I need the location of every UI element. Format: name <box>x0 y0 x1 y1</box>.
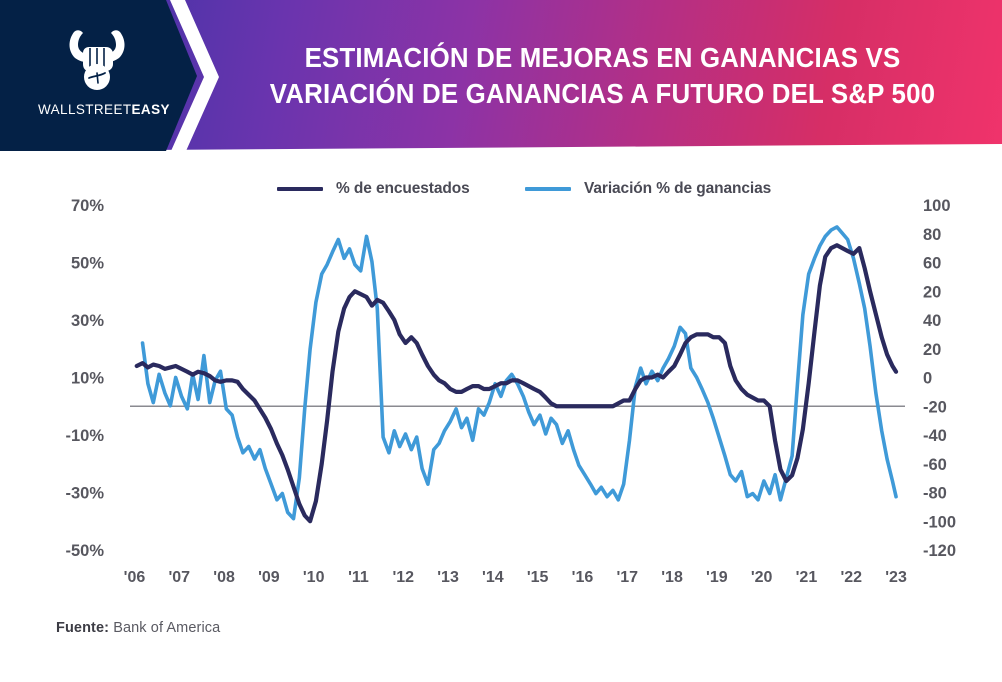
x-axis-tick: '11 <box>348 569 369 586</box>
y-axis-right-tick: -60 <box>923 456 947 474</box>
y-axis-right-tick: 100 <box>923 197 951 215</box>
y-axis-right-tick: -120 <box>923 542 956 560</box>
page-title: ESTIMACIÓN DE MEJORAS EN GANANCIAS VS VA… <box>238 40 967 112</box>
y-axis-right-tick: -40 <box>923 427 947 445</box>
x-axis-tick: '10 <box>303 569 325 586</box>
y-axis-left-tick: -50% <box>65 542 104 560</box>
bull-fist-logo-icon <box>58 26 136 98</box>
page-header: WALLSTREETEASY ESTIMACIÓN DE MEJORAS EN … <box>0 0 1002 151</box>
x-axis-tick: '06 <box>124 569 146 586</box>
x-axis-tick: '09 <box>258 569 280 586</box>
y-axis-right-tick: 80 <box>923 226 941 244</box>
x-axis-tick: '17 <box>616 569 638 586</box>
x-axis-tick: '20 <box>751 569 773 586</box>
y-axis-left-tick: 70% <box>71 197 104 215</box>
x-axis-tick: '14 <box>482 569 504 586</box>
page-title-line-2: VARIACIÓN DE GANANCIAS A FUTURO DEL S&P … <box>238 76 967 112</box>
chart-container: 70%50%30%10%-10%-30%-50%10080602040200-2… <box>0 150 1002 590</box>
x-axis-tick: '19 <box>706 569 728 586</box>
y-axis-right-tick: -80 <box>923 485 947 503</box>
brand-logo: WALLSTREETEASY <box>38 26 156 126</box>
x-axis-tick: '21 <box>796 569 818 586</box>
y-axis-right-tick: -100 <box>923 513 956 531</box>
y-axis-right-tick: 40 <box>923 312 941 330</box>
y-axis-right-tick: -20 <box>923 398 947 416</box>
x-axis-tick: '12 <box>392 569 414 586</box>
source-value: Bank of America <box>113 620 220 636</box>
y-axis-right-tick: 20 <box>923 283 941 301</box>
x-axis-tick: '07 <box>168 569 190 586</box>
page-title-line-1: ESTIMACIÓN DE MEJORAS EN GANANCIAS VS <box>238 40 967 76</box>
x-axis-tick: '08 <box>213 569 235 586</box>
y-axis-left-tick: 50% <box>71 255 104 273</box>
x-axis-tick: '16 <box>572 569 594 586</box>
y-axis-right-tick: 60 <box>923 255 941 273</box>
y-axis-right-tick: 20 <box>923 341 941 359</box>
x-axis-tick: '22 <box>840 569 862 586</box>
brand-wordmark: WALLSTREETEASY <box>38 102 156 117</box>
y-axis-left-tick: -10% <box>65 427 104 445</box>
source-note: Fuente: Bank of America <box>56 620 220 636</box>
y-axis-right-tick: 0 <box>923 370 932 388</box>
y-axis-left-tick: -30% <box>65 485 104 503</box>
x-axis-tick: '23 <box>885 569 907 586</box>
line-chart: 70%50%30%10%-10%-30%-50%10080602040200-2… <box>0 150 1002 590</box>
y-axis-left-tick: 10% <box>71 370 104 388</box>
brand-wordmark-bold: EASY <box>132 102 170 117</box>
source-label: Fuente: <box>56 620 109 636</box>
brand-wordmark-light: WALLSTREET <box>38 102 132 117</box>
x-axis-tick: '18 <box>661 569 683 586</box>
x-axis-tick: '13 <box>437 569 459 586</box>
y-axis-left-tick: 30% <box>71 312 104 330</box>
x-axis-tick: '15 <box>527 569 549 586</box>
